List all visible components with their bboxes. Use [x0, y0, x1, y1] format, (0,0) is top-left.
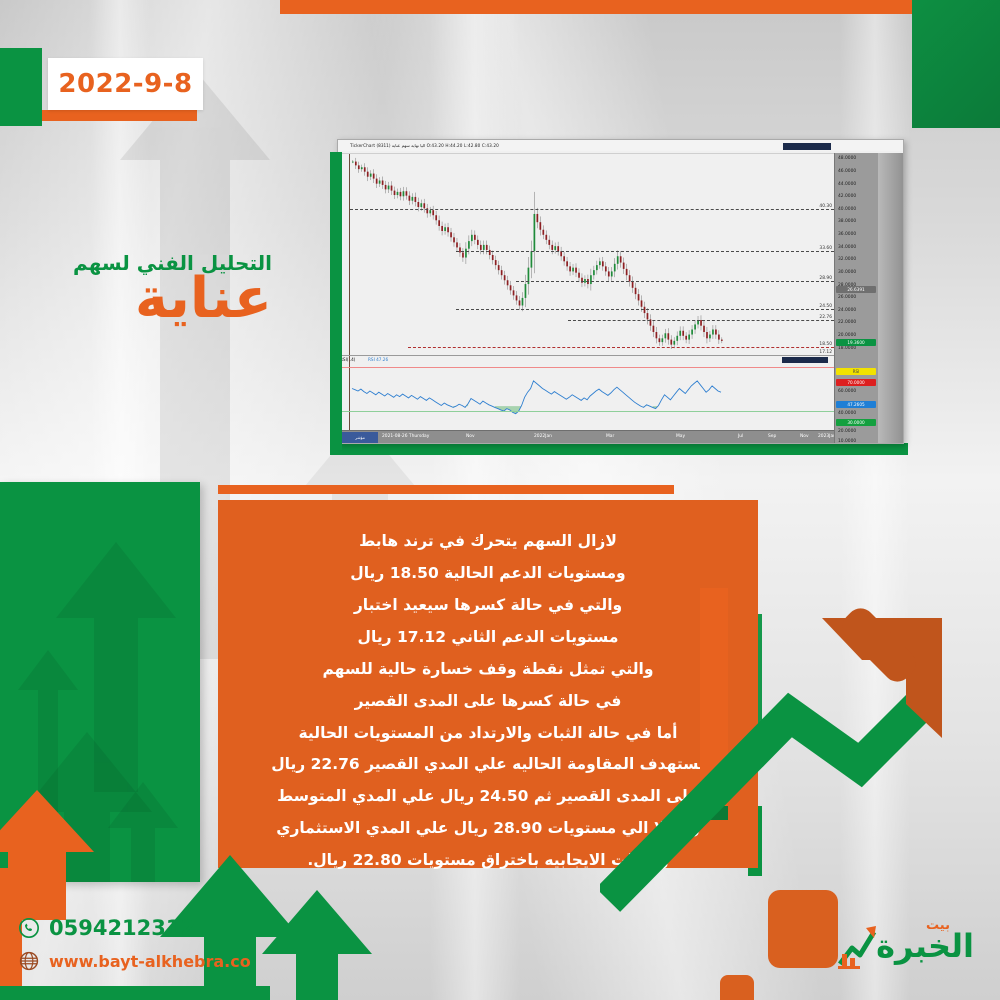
price-tick: 22.0000	[838, 320, 856, 325]
orange-rounded-square-small	[720, 975, 754, 1000]
price-scale: 48.000046.000044.000042.000040.000038.00…	[834, 153, 878, 443]
time-tick: Nov	[466, 434, 475, 439]
website-url: www.bayt-alkhebra.co	[49, 952, 251, 971]
time-tick: Sep	[768, 434, 776, 439]
chart-topright-chip	[783, 143, 831, 150]
rsi-pane: RSI(14) RSI 47.26	[338, 355, 834, 430]
date-badge: 2022-9-8	[48, 58, 203, 110]
time-tick: 2022Jan	[534, 434, 552, 439]
rsi-tick: 20.0000	[838, 429, 856, 434]
contacts-block: 0594212312 www.bayt-alkhebra.co	[18, 916, 258, 982]
rsi-tick: 60.0000	[838, 389, 856, 394]
time-tick: Jul	[738, 434, 743, 439]
bottom-green-strip	[0, 986, 270, 1000]
scale-right-gradient	[878, 153, 904, 443]
whatsapp-number: 0594212312	[49, 916, 195, 940]
level-label: 33.60	[819, 246, 832, 251]
price-tick: 18.0000	[838, 346, 856, 351]
date-underline	[42, 110, 197, 121]
top-left-green-block	[0, 48, 42, 126]
top-right-green-block	[912, 0, 1000, 128]
level-label: 18.50	[819, 342, 832, 347]
rsi-overbought-chip: 70.0000	[836, 379, 876, 386]
rsi-oversold-line	[338, 411, 834, 412]
textbox-top-accent	[218, 485, 674, 494]
globe-icon	[18, 950, 40, 972]
date-text: 2022-9-8	[58, 69, 192, 99]
orange-rounded-square	[768, 890, 838, 968]
price-tick: 36.0000	[838, 232, 856, 237]
time-tick: May	[676, 434, 685, 439]
price-tick: 34.0000	[838, 245, 856, 250]
level-line	[456, 251, 834, 252]
rsi-value-chip: 47.2605	[836, 401, 876, 408]
rsi-chip	[782, 357, 828, 363]
price-tick: 32.0000	[838, 257, 856, 262]
price-tick: 24.0000	[838, 308, 856, 313]
price-tick: 38.0000	[838, 219, 856, 224]
price-tick: 48.0000	[838, 156, 856, 161]
time-tick: 2021-08-26 Thursday	[382, 434, 429, 439]
price-tick: 44.0000	[838, 182, 856, 187]
level-line	[350, 209, 834, 210]
headline-block: التحليل الفني لسهم عناية	[12, 252, 272, 329]
time-tick: Nov	[800, 434, 809, 439]
logo-growth-icon	[836, 918, 880, 970]
price-pane: 40.3033.6028.9024.5022.7618.5017.12	[338, 153, 834, 355]
level-label: 28.90	[819, 276, 832, 281]
price-tick: 46.0000	[838, 169, 856, 174]
price-tick: 30.0000	[838, 270, 856, 275]
chart-screenshot[interactable]: TickerChart اليا نهاية سهم عناية (8311) …	[337, 139, 904, 444]
rsi-tick: 10.0000	[838, 439, 856, 444]
price-cursor-chip: 26.6391	[836, 286, 876, 293]
level-line	[568, 320, 834, 321]
level-line	[456, 309, 834, 310]
whatsapp-icon	[18, 917, 40, 939]
level-label: 22.76	[819, 315, 832, 320]
rsi-tick: 40.0000	[838, 411, 856, 416]
time-axis: مؤشر 2021-08-26 ThursdayNov2022JanMarMay…	[338, 430, 834, 443]
price-tick: 20.0000	[838, 333, 856, 338]
rsi-oversold-chip: 30.0000	[836, 419, 876, 426]
level-label: 40.30	[819, 204, 832, 209]
chart-green-accent-bottom	[330, 443, 908, 455]
top-right-accent-bar	[740, 0, 916, 14]
level-label: 24.50	[819, 304, 832, 309]
rsi-overbought-line	[338, 367, 834, 368]
poster-canvas: 2022-9-8 التحليل الفني لسهم عناية Ticker…	[0, 0, 1000, 1000]
price-last-chip: 19.3600	[836, 339, 876, 346]
brand-logo: بيت الخبرة	[834, 912, 984, 982]
whatsapp-row[interactable]: 0594212312	[18, 916, 258, 940]
time-axis-tool-chip[interactable]: مؤشر	[342, 432, 378, 443]
level-line	[408, 347, 834, 348]
chart-green-accent-left	[330, 152, 342, 450]
headline-title: عناية	[12, 270, 272, 329]
growth-arrow-graphic	[600, 600, 1000, 940]
logo-word-main: الخبرة	[876, 930, 974, 962]
arrow-head-orange	[822, 603, 942, 738]
rsi-value-label: RSI 47.26	[368, 357, 388, 362]
level-line	[516, 281, 834, 282]
website-row[interactable]: www.bayt-alkhebra.co	[18, 950, 258, 972]
candlestick-series	[338, 154, 834, 355]
price-tick: 26.0000	[838, 295, 856, 300]
time-tick: Mar	[606, 434, 614, 439]
top-accent-bar	[280, 0, 750, 14]
price-tick: 42.0000	[838, 194, 856, 199]
rsi-label: RSI(14)	[340, 357, 355, 362]
bottom-green-arrow-2	[262, 890, 372, 1000]
rsi-top-chip: RSI	[836, 368, 876, 375]
price-tick: 40.0000	[838, 207, 856, 212]
